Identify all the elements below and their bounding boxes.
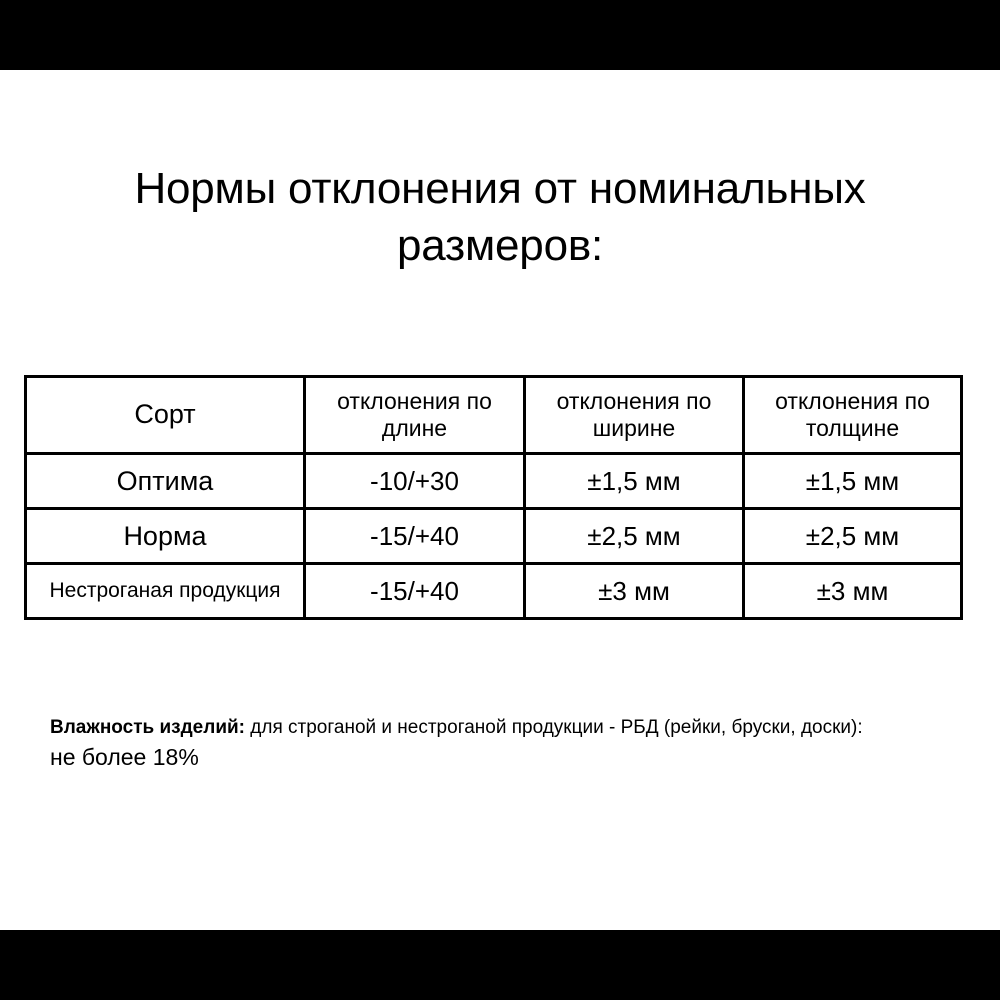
column-header-grade: Сорт bbox=[26, 377, 305, 454]
footnote-line-1-text: для строганой и нестроганой продукции - … bbox=[245, 717, 863, 738]
cell-thickness-deviation: ±2,5 мм bbox=[744, 509, 962, 564]
cell-grade: Нестроганая продукция bbox=[26, 564, 305, 619]
page-title: Нормы отклонения от номинальных размеров… bbox=[60, 160, 940, 274]
footnote-line-2: не более 18% bbox=[50, 741, 940, 774]
cell-thickness-deviation: ±3 мм bbox=[744, 564, 962, 619]
table-header: Сорт отклонения по длине отклонения по ш… bbox=[26, 377, 962, 454]
cell-grade: Норма bbox=[26, 509, 305, 564]
column-header-length: отклонения по длине bbox=[305, 377, 525, 454]
cell-length-deviation: -15/+40 bbox=[305, 564, 525, 619]
column-header-width: отклонения по ширине bbox=[525, 377, 744, 454]
cell-width-deviation: ±2,5 мм bbox=[525, 509, 744, 564]
table-body: Оптима -10/+30 ±1,5 мм ±1,5 мм Норма -15… bbox=[26, 454, 962, 619]
table-row: Норма -15/+40 ±2,5 мм ±2,5 мм bbox=[26, 509, 962, 564]
cell-width-deviation: ±1,5 мм bbox=[525, 454, 744, 509]
footnote-label: Влажность изделий: bbox=[50, 717, 245, 738]
footnote-line-1: Влажность изделий: для строганой и нестр… bbox=[50, 715, 940, 741]
footnote: Влажность изделий: для строганой и нестр… bbox=[50, 715, 940, 774]
table-row: Нестроганая продукция -15/+40 ±3 мм ±3 м… bbox=[26, 564, 962, 619]
letterbox-bottom bbox=[0, 930, 1000, 1000]
column-header-thickness: отклонения по толщине bbox=[744, 377, 962, 454]
cell-width-deviation: ±3 мм bbox=[525, 564, 744, 619]
cell-length-deviation: -10/+30 bbox=[305, 454, 525, 509]
slide-canvas: Нормы отклонения от номинальных размеров… bbox=[0, 70, 1000, 930]
table-row: Оптима -10/+30 ±1,5 мм ±1,5 мм bbox=[26, 454, 962, 509]
cell-length-deviation: -15/+40 bbox=[305, 509, 525, 564]
table-header-row: Сорт отклонения по длине отклонения по ш… bbox=[26, 377, 962, 454]
cell-grade: Оптима bbox=[26, 454, 305, 509]
cell-thickness-deviation: ±1,5 мм bbox=[744, 454, 962, 509]
deviation-norms-table: Сорт отклонения по длине отклонения по ш… bbox=[24, 375, 963, 620]
letterbox-top bbox=[0, 0, 1000, 70]
